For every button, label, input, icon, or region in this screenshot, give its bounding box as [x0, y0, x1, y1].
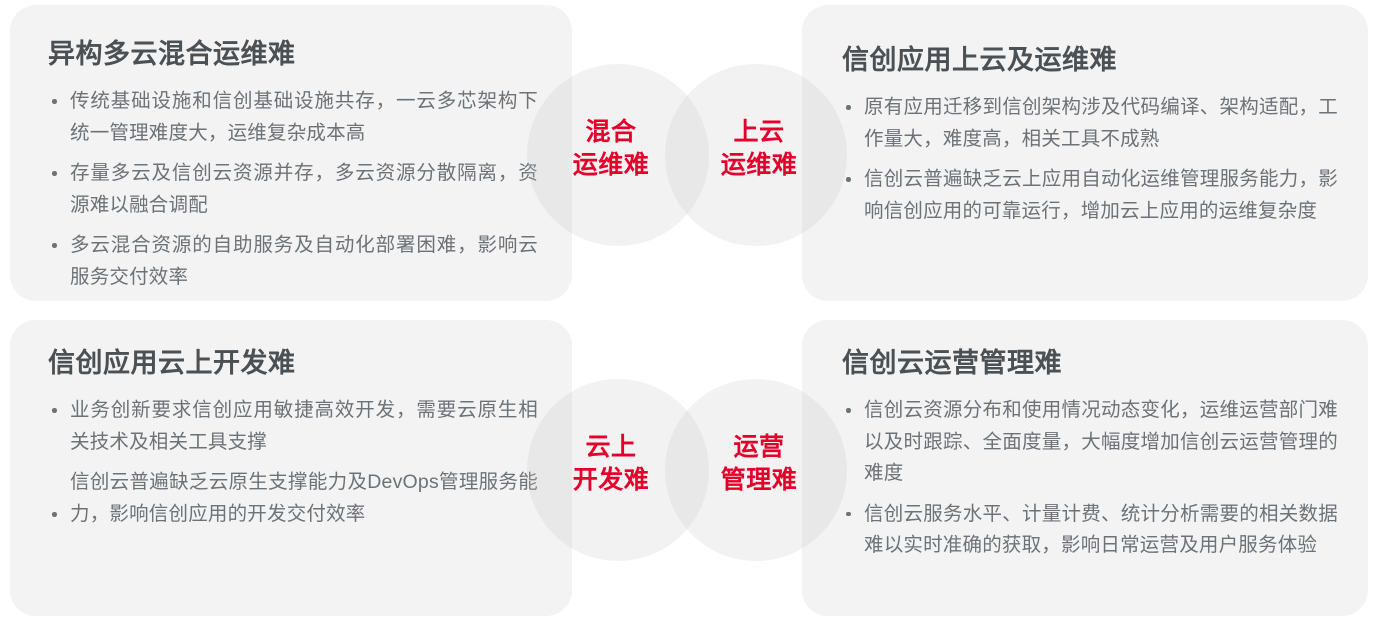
card-heterogeneous-multicloud-ops: 异构多云混合运维难 传统基础设施和信创基础设施共存，一云多芯架构下统一管理难度大… [10, 5, 572, 301]
bullet-item: 传统基础设施和信创基础设施共存，一云多芯架构下统一管理难度大，运维复杂成本高 [48, 86, 538, 149]
venn-diagram-row-2: 云上 开发难 运营 管理难 [572, 379, 802, 569]
card-title: 信创云运营管理难 [842, 348, 1338, 379]
card-title: 信创应用云上开发难 [48, 348, 538, 379]
card-xinchuang-cloud-operations-mgmt: 信创云运营管理难 信创云资源分布和使用情况动态变化，运维运营部门难以及时跟踪、全… [802, 320, 1368, 616]
card-bullet-list: 业务创新要求信创应用敏捷高效开发，需要云原生相关技术及相关工具支撑 信创云普遍缺… [48, 395, 538, 530]
card-title: 异构多云混合运维难 [48, 39, 538, 70]
card-content: 信创云运营管理难 信创云资源分布和使用情况动态变化，运维运营部门难以及时跟踪、全… [802, 320, 1368, 562]
card-bullet-list: 传统基础设施和信创基础设施共存，一云多芯架构下统一管理难度大，运维复杂成本高 存… [48, 86, 538, 293]
card-content: 异构多云混合运维难 传统基础设施和信创基础设施共存，一云多芯架构下统一管理难度大… [10, 5, 572, 294]
bullet-item: 信创云资源分布和使用情况动态变化，运维运营部门难以及时跟踪、全面度量，大幅度增加… [842, 395, 1338, 490]
card-content: 信创应用上云及运维难 原有应用迁移到信创架构涉及代码编译、架构适配，工作量大，难… [802, 5, 1368, 227]
card-xinchuang-app-to-cloud-ops: 信创应用上云及运维难 原有应用迁移到信创架构涉及代码编译、架构适配，工作量大，难… [802, 5, 1368, 301]
card-content: 信创应用云上开发难 业务创新要求信创应用敏捷高效开发，需要云原生相关技术及相关工… [10, 320, 572, 530]
bullet-item: 信创云服务水平、计量计费、统计分析需要的相关数据难以实时准确的获取，影响日常运营… [842, 499, 1338, 562]
card-bullet-list: 信创云资源分布和使用情况动态变化，运维运营部门难以及时跟踪、全面度量，大幅度增加… [842, 395, 1338, 562]
bullet-item: 信创云普遍缺乏云上应用自动化运维管理服务能力，影响信创应用的可靠运行，增加云上应… [842, 164, 1338, 227]
bullet-item: 原有应用迁移到信创架构涉及代码编译、架构适配，工作量大，难度高，相关工具不成熟 [842, 92, 1338, 155]
card-xinchuang-app-cloud-dev: 信创应用云上开发难 业务创新要求信创应用敏捷高效开发，需要云原生相关技术及相关工… [10, 320, 572, 616]
bullet-item: 信创云普遍缺乏云原生支撑能力及DevOps管理服务能力，影响信创应用的开发交付效… [48, 467, 538, 530]
bullet-item: 存量多云及信创云资源并存，多云资源分散隔离，资源难以融合调配 [48, 158, 538, 221]
infographic-canvas: 异构多云混合运维难 传统基础设施和信创基础设施共存，一云多芯架构下统一管理难度大… [0, 0, 1378, 620]
bullet-item: 业务创新要求信创应用敏捷高效开发，需要云原生相关技术及相关工具支撑 [48, 395, 538, 458]
bullet-item: 多云混合资源的自助服务及自动化部署困难，影响云服务交付效率 [48, 230, 538, 293]
card-bullet-list: 原有应用迁移到信创架构涉及代码编译、架构适配，工作量大，难度高，相关工具不成熟 … [842, 92, 1338, 227]
venn-diagram-row-1: 混合 运维难 上云 运维难 [572, 64, 802, 254]
card-title: 信创应用上云及运维难 [842, 45, 1338, 76]
